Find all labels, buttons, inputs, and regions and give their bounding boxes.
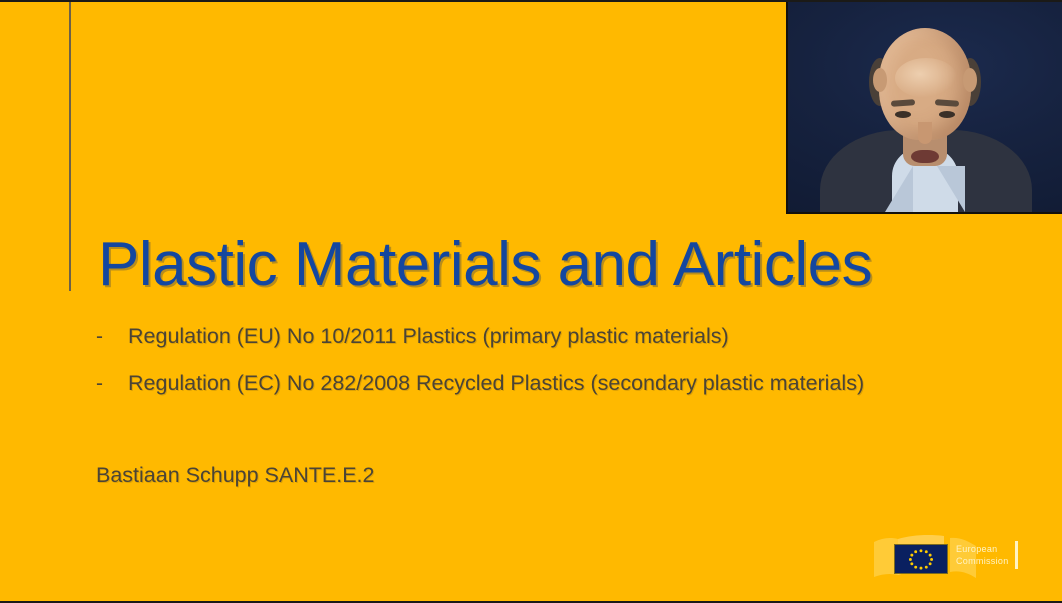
- european-commission-logo: European Commission: [872, 532, 1032, 582]
- list-item-label: Regulation (EC) No 282/2008 Recycled Pla…: [128, 371, 864, 396]
- presenter-webcam-video[interactable]: [786, 2, 1062, 214]
- page-title: Plastic Materials and Articles: [98, 234, 872, 296]
- presenter-head: [879, 28, 971, 140]
- eu-flag-icon: [894, 544, 948, 574]
- presenter-collar-right: [937, 166, 965, 212]
- bullet-list: - Regulation (EU) No 10/2011 Plastics (p…: [96, 324, 1056, 418]
- presenter-ear-right: [963, 68, 977, 92]
- bullet-dash-icon: -: [96, 325, 128, 349]
- list-item: - Regulation (EU) No 10/2011 Plastics (p…: [96, 324, 1056, 349]
- presenter-eye-left: [895, 111, 911, 118]
- presenter-ear-left: [873, 68, 887, 92]
- title-accent-rule: [69, 2, 71, 291]
- presenter-eye-right: [939, 111, 955, 118]
- presenter-forehead-highlight: [895, 58, 957, 98]
- presenter-byline: Bastiaan Schupp SANTE.E.2: [96, 463, 374, 488]
- logo-divider-bar: [1015, 541, 1018, 569]
- presenter-brow-left: [891, 99, 915, 107]
- presenter-mouth: [911, 150, 939, 163]
- logo-wordmark-line2: Commission: [956, 555, 1009, 567]
- logo-wordmark-line1: European: [956, 543, 1009, 555]
- list-item: - Regulation (EC) No 282/2008 Recycled P…: [96, 371, 1056, 396]
- logo-wordmark: European Commission: [956, 543, 1009, 567]
- presenter-nose: [918, 122, 932, 144]
- presenter-collar-left: [885, 166, 913, 212]
- presenter-brow-right: [935, 99, 959, 107]
- list-item-label: Regulation (EU) No 10/2011 Plastics (pri…: [128, 324, 729, 349]
- presentation-slide: Plastic Materials and Articles - Regulat…: [0, 0, 1062, 603]
- eu-stars-icon: [895, 545, 947, 574]
- bullet-dash-icon: -: [96, 372, 128, 396]
